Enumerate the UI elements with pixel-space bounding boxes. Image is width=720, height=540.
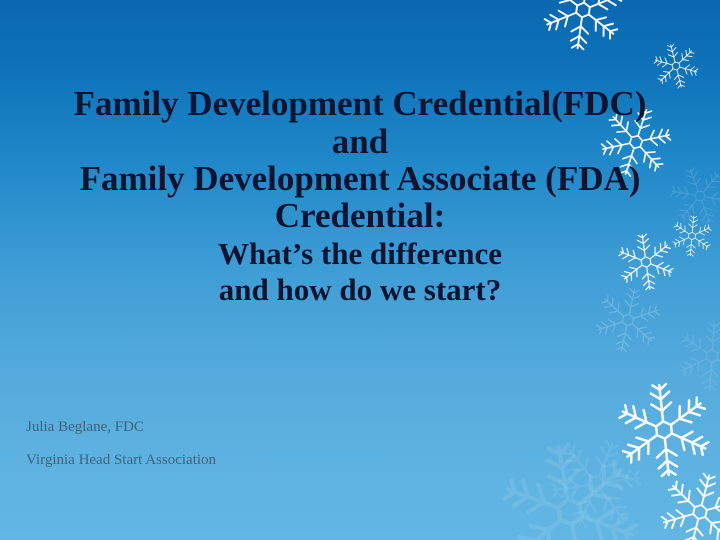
subtitle-presenter-name: Julia Beglane, FDC [26, 420, 216, 435]
snowflake-bottom-right-icon [652, 464, 720, 540]
snowflake-ghost-lower-left-icon [536, 424, 656, 540]
title-line-3: Family Development Associate (FDA) [0, 161, 720, 197]
slide-title: Family Development Credential(FDC) and F… [0, 86, 720, 306]
title-line-5: What’s the difference [0, 238, 720, 270]
slide-subtitle: Julia Beglane, FDC Virginia Head Start A… [26, 420, 216, 468]
snowflake-top-right-large-icon [537, 0, 630, 56]
snowflake-ghost-far-right-icon [675, 319, 720, 394]
title-line-2: and [0, 124, 720, 160]
snowflake-lower-right-big-icon [611, 377, 717, 483]
snowflake-ghost-bottom-big-icon [489, 431, 651, 540]
title-line-4: Credential: [0, 198, 720, 234]
presentation-slide: Family Development Credential(FDC) and F… [0, 0, 720, 540]
title-line-6: and how do we start? [0, 274, 720, 306]
title-line-1: Family Development Credential(FDC) [0, 86, 720, 122]
subtitle-organization: Virginia Head Start Association [26, 453, 216, 468]
